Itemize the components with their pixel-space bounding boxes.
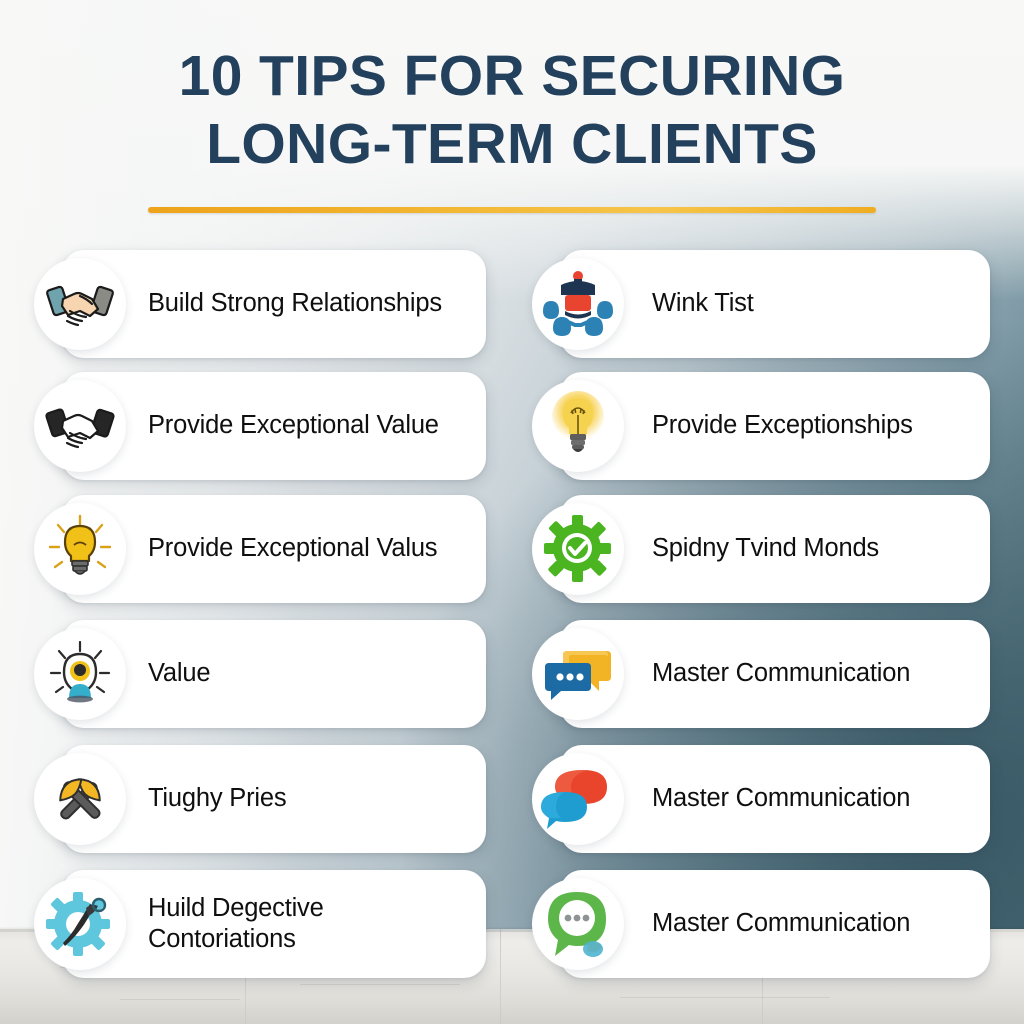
tip-card-right-1[interactable]: Wink Tist bbox=[560, 250, 990, 358]
tip-card-label: Build Strong Relationships bbox=[148, 288, 442, 319]
lightbulb-glow-icon bbox=[532, 380, 624, 472]
crossed-axes-icon bbox=[34, 753, 126, 845]
tip-card-right-6[interactable]: Master Communication bbox=[560, 870, 990, 978]
tip-card-label: Spidny Tvind Monds bbox=[652, 533, 879, 564]
lightbulb-rays-icon bbox=[34, 503, 126, 595]
team-group-icon bbox=[532, 258, 624, 350]
person-in-lightbulb-icon bbox=[34, 628, 126, 720]
tip-card-label: Provide Exceptionships bbox=[652, 410, 913, 441]
tip-card-label: Provide Exceptional Value bbox=[148, 410, 439, 441]
tip-card-left-3[interactable]: Provide Exceptional Valus bbox=[62, 495, 486, 603]
tip-card-label: Master Communication bbox=[652, 908, 910, 939]
tip-card-left-5[interactable]: Tiughy Pries bbox=[62, 745, 486, 853]
tip-card-right-3[interactable]: Spidny Tvind Monds bbox=[560, 495, 990, 603]
tip-card-label: Value bbox=[148, 658, 210, 689]
tip-card-right-4[interactable]: Master Communication bbox=[560, 620, 990, 728]
handshake-outline-icon bbox=[34, 380, 126, 472]
tip-card-right-5[interactable]: Master Communication bbox=[560, 745, 990, 853]
handshake-color-icon bbox=[34, 258, 126, 350]
tip-card-label: Tiughy Pries bbox=[148, 783, 286, 814]
tip-card-label: Wink Tist bbox=[652, 288, 754, 319]
chat-bubbles-blue-yellow-icon bbox=[532, 628, 624, 720]
gear-check-icon bbox=[532, 503, 624, 595]
tip-card-right-2[interactable]: Provide Exceptionships bbox=[560, 372, 990, 480]
tip-card-left-1[interactable]: Build Strong Relationships bbox=[62, 250, 486, 358]
tips-board: Build Strong Relationships Provide Excep… bbox=[0, 0, 1024, 1024]
tip-card-left-2[interactable]: Provide Exceptional Value bbox=[62, 372, 486, 480]
chat-bubbles-red-blue-icon bbox=[532, 753, 624, 845]
tip-card-label: Provide Exceptional Valus bbox=[148, 533, 437, 564]
tip-card-label: Master Communication bbox=[652, 783, 910, 814]
tip-card-left-6[interactable]: Huild Degective Contoriations bbox=[62, 870, 486, 978]
chat-bubble-green-icon bbox=[532, 878, 624, 970]
gear-pen-icon bbox=[34, 878, 126, 970]
tip-card-left-4[interactable]: Value bbox=[62, 620, 486, 728]
tip-card-label: Master Communication bbox=[652, 658, 910, 689]
tip-card-label: Huild Degective Contoriations bbox=[148, 893, 472, 955]
